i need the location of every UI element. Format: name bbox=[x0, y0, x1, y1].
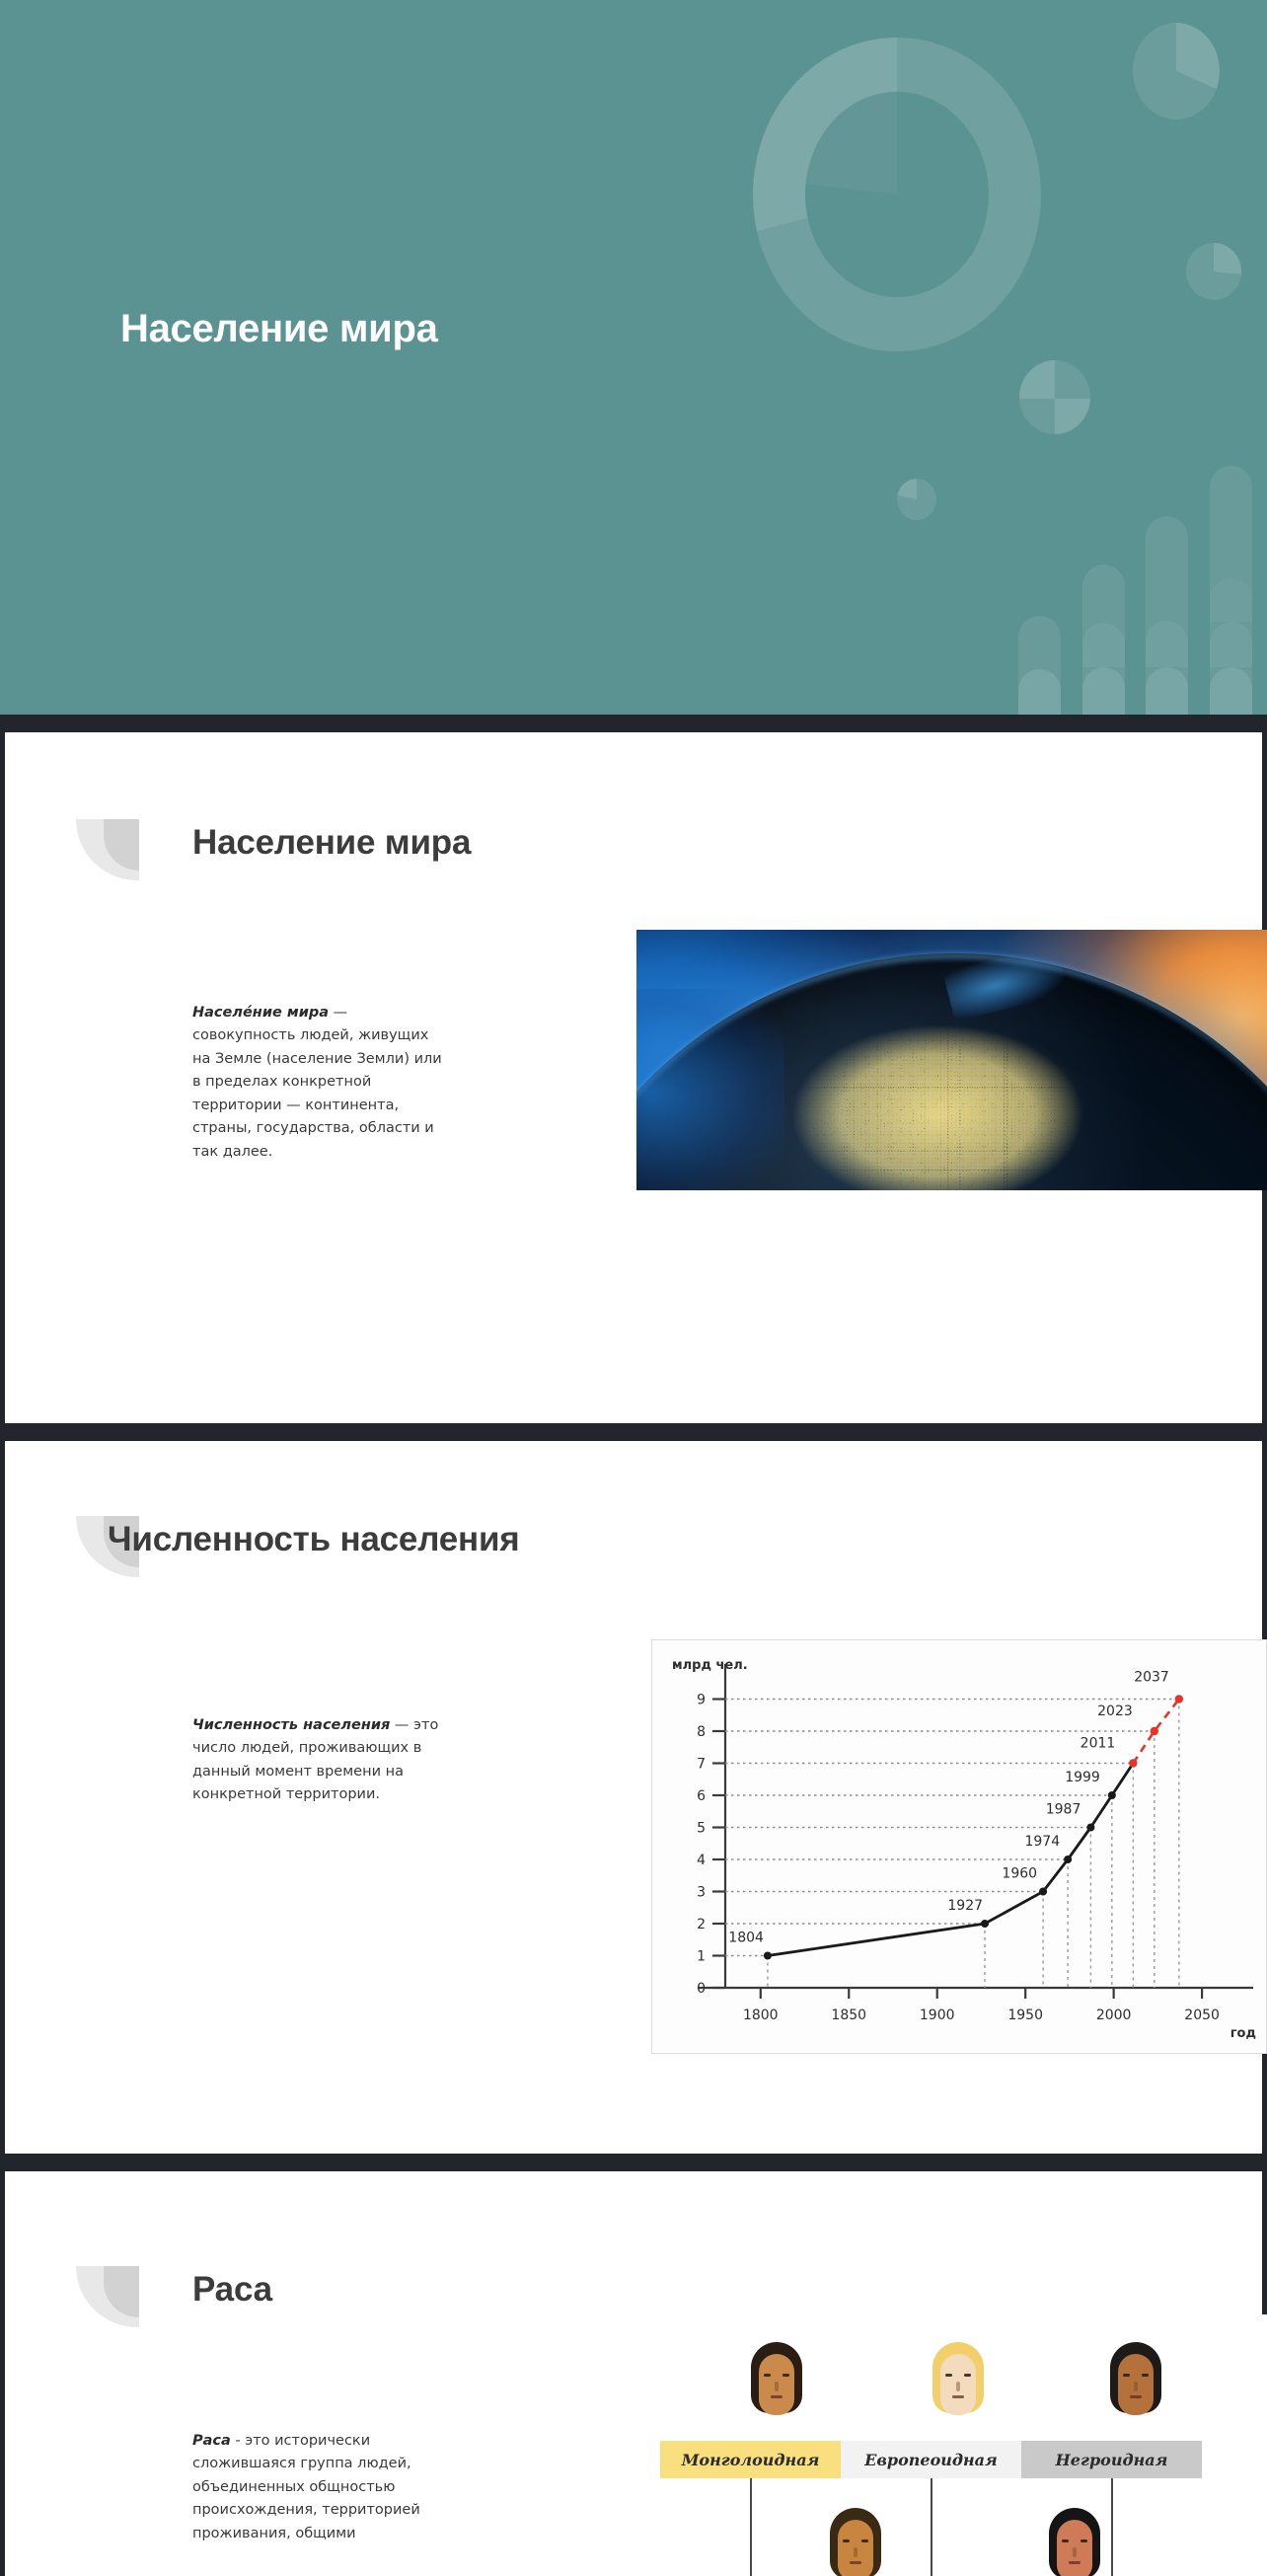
body-paragraph: Населе́ние мира — совокупность людей, жи… bbox=[192, 1002, 444, 1164]
race-label-box[interactable]: Монголоидная bbox=[660, 2441, 841, 2478]
race-label-box[interactable]: Негроидная bbox=[1021, 2441, 1202, 2478]
body-lead-term: Раса bbox=[192, 2433, 231, 2449]
svg-text:2011: 2011 bbox=[1081, 1736, 1116, 1752]
race-label-text: Негроидная bbox=[1056, 2451, 1168, 2469]
svg-text:2000: 2000 bbox=[1096, 2008, 1132, 2023]
presentation-deck: Население мира Население мира Населе́ние… bbox=[0, 0, 1267, 2576]
race-subface-illustration bbox=[1043, 2508, 1106, 2576]
donut-ring-hole bbox=[805, 92, 989, 297]
slide-title[interactable]: Население мира bbox=[0, 0, 1267, 715]
svg-text:1999: 1999 bbox=[1065, 1770, 1100, 1785]
deco-bar-4 bbox=[1210, 466, 1252, 715]
race-connector-line bbox=[750, 2478, 752, 2576]
svg-text:1987: 1987 bbox=[1046, 1802, 1081, 1818]
earth-at-night-image bbox=[636, 930, 1267, 1190]
svg-text:1974: 1974 bbox=[1024, 1834, 1060, 1850]
population-growth-chart: млрд чел. год 01234567891800185019001950… bbox=[651, 1639, 1267, 2054]
body-rest-text: - это исторически сложившаяся группа люд… bbox=[192, 2433, 420, 2541]
race-label-text: Европеоидная bbox=[864, 2451, 998, 2469]
race-face-illustration bbox=[1104, 2342, 1167, 2437]
pie-circle-icon-c bbox=[1019, 360, 1090, 434]
svg-text:1: 1 bbox=[697, 1949, 706, 1965]
svg-text:8: 8 bbox=[697, 1724, 706, 1740]
svg-text:2037: 2037 bbox=[1134, 1670, 1169, 1686]
svg-text:2: 2 bbox=[697, 1917, 706, 1932]
svg-text:1850: 1850 bbox=[831, 2008, 866, 2023]
race-subface-illustration bbox=[824, 2508, 887, 2576]
race-face-illustration bbox=[927, 2342, 990, 2437]
svg-text:1950: 1950 bbox=[1007, 2008, 1043, 2023]
svg-text:7: 7 bbox=[697, 1757, 706, 1773]
deco-bar-2 bbox=[1082, 565, 1125, 715]
race-connector-line bbox=[1111, 2478, 1113, 2576]
donut-ring-slice bbox=[753, 38, 1041, 351]
chart-canvas: 0123456789180018501900195020002050180419… bbox=[652, 1640, 1267, 2055]
slide-separator-1 bbox=[0, 715, 1267, 732]
body-lead-term: Населе́ние мира bbox=[192, 1005, 329, 1021]
pie-circle-icon-a bbox=[1133, 23, 1220, 119]
race-face-illustration bbox=[745, 2342, 808, 2437]
race-classification-diagram: МонголоиднаяЕвропеоиднаяНегроидная bbox=[638, 2314, 1267, 2576]
chart-y-axis-unit: млрд чел. bbox=[672, 1658, 748, 1673]
svg-text:1800: 1800 bbox=[743, 2008, 779, 2023]
svg-text:3: 3 bbox=[697, 1885, 706, 1901]
quarter-circle-icon bbox=[76, 819, 139, 880]
race-connector-line bbox=[931, 2478, 932, 2576]
svg-text:2050: 2050 bbox=[1184, 2008, 1220, 2023]
svg-text:6: 6 bbox=[697, 1788, 706, 1804]
slide-separator-2 bbox=[0, 1423, 1267, 1441]
page-title: Раса bbox=[192, 2270, 272, 2310]
svg-text:1804: 1804 bbox=[728, 1931, 764, 1946]
svg-text:1927: 1927 bbox=[947, 1898, 983, 1914]
page-title: Численность населения bbox=[108, 1520, 520, 1559]
race-label-text: Монголоидная bbox=[682, 2451, 820, 2469]
svg-text:4: 4 bbox=[697, 1853, 706, 1868]
svg-text:5: 5 bbox=[697, 1821, 706, 1837]
slide-separator-3 bbox=[0, 2154, 1267, 2171]
pie-circle-icon-d bbox=[897, 479, 936, 520]
deco-bar-3 bbox=[1146, 516, 1188, 715]
body-paragraph: Численность населения — это число людей,… bbox=[192, 1714, 459, 1807]
deco-bar-1 bbox=[1018, 616, 1061, 715]
svg-text:9: 9 bbox=[697, 1693, 706, 1708]
body-lead-term: Численность населения bbox=[192, 1717, 390, 1733]
svg-text:0: 0 bbox=[697, 1981, 706, 1997]
chart-x-axis-unit: год bbox=[1230, 2026, 1256, 2041]
quarter-circle-icon bbox=[76, 2266, 139, 2327]
svg-text:1900: 1900 bbox=[920, 2008, 955, 2023]
donut-ring-outer bbox=[753, 38, 1041, 351]
svg-text:2023: 2023 bbox=[1097, 1704, 1133, 1719]
title-decorations bbox=[0, 0, 1267, 715]
body-paragraph: Раса - это исторически сложившаяся групп… bbox=[192, 2430, 464, 2545]
donut-ring-inner-slice bbox=[805, 92, 989, 297]
svg-text:1960: 1960 bbox=[1002, 1866, 1037, 1882]
body-rest-text: — совокупность людей, живущих на Земле (… bbox=[192, 1005, 442, 1160]
race-label-box[interactable]: Европеоидная bbox=[841, 2441, 1021, 2478]
page-title: Население мира bbox=[192, 823, 471, 863]
title-slide-heading: Население мира bbox=[120, 307, 438, 351]
pie-circle-icon-b bbox=[1186, 243, 1241, 300]
